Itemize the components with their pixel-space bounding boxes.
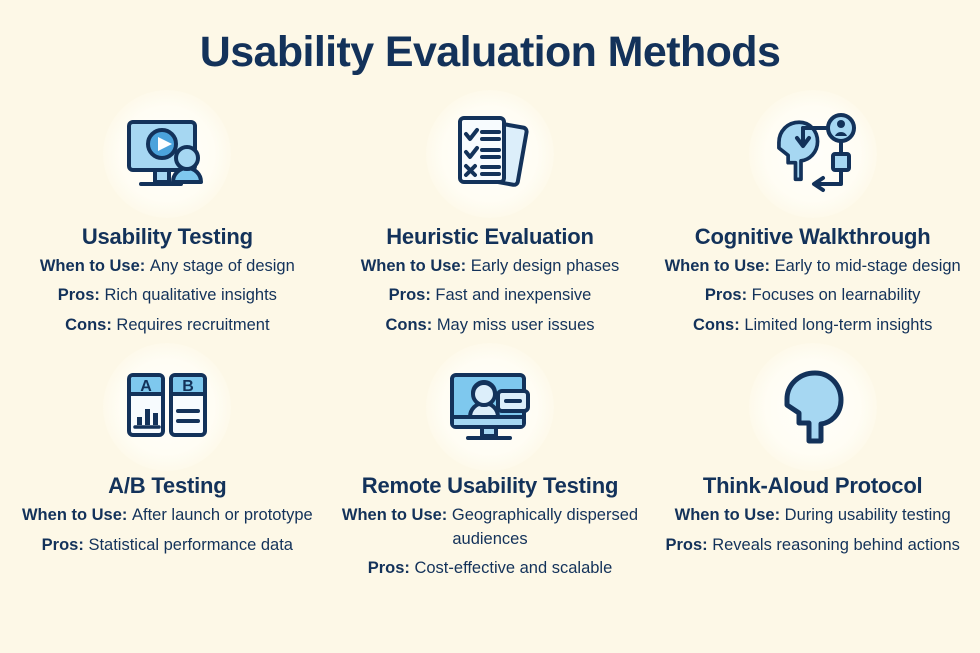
method-card-cognitive-walkthrough[interactable]: Cognitive Walkthrough When to Use: Early…	[651, 90, 974, 344]
card-pros-line: Pros: Focuses on learnability	[705, 284, 921, 307]
pros-label: Pros:	[705, 286, 752, 304]
card-pros-line: Pros: Rich qualitative insights	[58, 284, 277, 307]
icon-container	[426, 343, 554, 471]
method-card-think-aloud-protocol[interactable]: Think-Aloud Protocol When to Use: During…	[651, 343, 974, 587]
ab-panels-icon: A B	[119, 359, 215, 455]
method-card-usability-testing[interactable]: Usability Testing When to Use: Any stage…	[6, 90, 329, 344]
svg-text:B: B	[183, 378, 195, 395]
when-value: After launch or prototype	[132, 506, 313, 524]
pros-value: Fast and inexpensive	[435, 286, 591, 304]
card-when-line: When to Use: Any stage of design	[40, 255, 295, 278]
pros-value: Focuses on learnability	[752, 286, 921, 304]
when-label: When to Use:	[22, 506, 132, 524]
cons-label: Cons:	[693, 316, 744, 334]
pros-label: Pros:	[389, 286, 436, 304]
when-value: Early design phases	[471, 257, 620, 275]
svg-text:A: A	[141, 378, 153, 395]
cons-label: Cons:	[385, 316, 436, 334]
when-label: When to Use:	[675, 506, 785, 524]
pros-label: Pros:	[368, 559, 415, 577]
icon-container	[103, 90, 231, 218]
when-value: Geographically dispersed audiences	[452, 506, 638, 547]
icon-container: A B	[103, 343, 231, 471]
head-cycle-user-icon	[765, 106, 861, 202]
when-label: When to Use:	[40, 257, 150, 275]
card-pros-line: Pros: Cost-effective and scalable	[368, 557, 613, 580]
method-card-heuristic-evaluation[interactable]: Heuristic Evaluation When to Use: Early …	[329, 90, 652, 344]
method-card-remote-usability-testing[interactable]: Remote Usability Testing When to Use: Ge…	[329, 343, 652, 587]
card-pros-line: Pros: Statistical performance data	[42, 534, 293, 557]
card-when-line: When to Use: Geographically dispersed au…	[340, 504, 640, 551]
card-cons-line: Cons: Requires recruitment	[65, 314, 269, 337]
card-cons-line: Cons: Limited long-term insights	[693, 314, 932, 337]
page-title: Usability Evaluation Methods	[0, 0, 980, 76]
card-title: Cognitive Walkthrough	[695, 224, 931, 249]
card-title: Remote Usability Testing	[362, 473, 618, 498]
head-profile-icon	[765, 359, 861, 455]
methods-grid: Usability Testing When to Use: Any stage…	[0, 76, 980, 587]
pros-value: Statistical performance data	[88, 536, 293, 554]
when-label: When to Use:	[665, 257, 775, 275]
card-pros-line: Pros: Fast and inexpensive	[389, 284, 592, 307]
cons-value: Limited long-term insights	[744, 316, 932, 334]
icon-container	[749, 90, 877, 218]
card-title: A/B Testing	[108, 473, 226, 498]
cons-value: Requires recruitment	[116, 316, 269, 334]
icon-container	[426, 90, 554, 218]
when-label: When to Use:	[361, 257, 471, 275]
when-value: Any stage of design	[150, 257, 295, 275]
card-title: Think-Aloud Protocol	[703, 473, 923, 498]
pros-label: Pros:	[665, 536, 712, 554]
monitor-play-person-icon	[119, 106, 215, 202]
card-when-line: When to Use: After launch or prototype	[22, 504, 313, 527]
icon-container	[749, 343, 877, 471]
card-when-line: When to Use: Early to mid-stage design	[665, 255, 961, 278]
pros-value: Cost-effective and scalable	[414, 559, 612, 577]
cons-value: May miss user issues	[437, 316, 595, 334]
when-label: When to Use:	[342, 506, 452, 524]
pros-label: Pros:	[58, 286, 105, 304]
checklist-documents-icon	[442, 106, 538, 202]
card-when-line: When to Use: During usability testing	[675, 504, 951, 527]
card-pros-line: Pros: Reveals reasoning behind actions	[665, 534, 959, 557]
cons-label: Cons:	[65, 316, 116, 334]
infographic-poster: Usability Evaluation Methods Usability T…	[0, 0, 980, 653]
monitor-headset-chat-icon	[442, 359, 538, 455]
method-card-ab-testing[interactable]: A B A/B Testing When to Use: After launc…	[6, 343, 329, 587]
card-title: Usability Testing	[82, 224, 253, 249]
card-when-line: When to Use: Early design phases	[361, 255, 620, 278]
pros-value: Rich qualitative insights	[105, 286, 277, 304]
when-value: Early to mid-stage design	[775, 257, 961, 275]
pros-value: Reveals reasoning behind actions	[712, 536, 960, 554]
when-value: During usability testing	[785, 506, 951, 524]
pros-label: Pros:	[42, 536, 89, 554]
card-title: Heuristic Evaluation	[386, 224, 594, 249]
card-cons-line: Cons: May miss user issues	[385, 314, 594, 337]
